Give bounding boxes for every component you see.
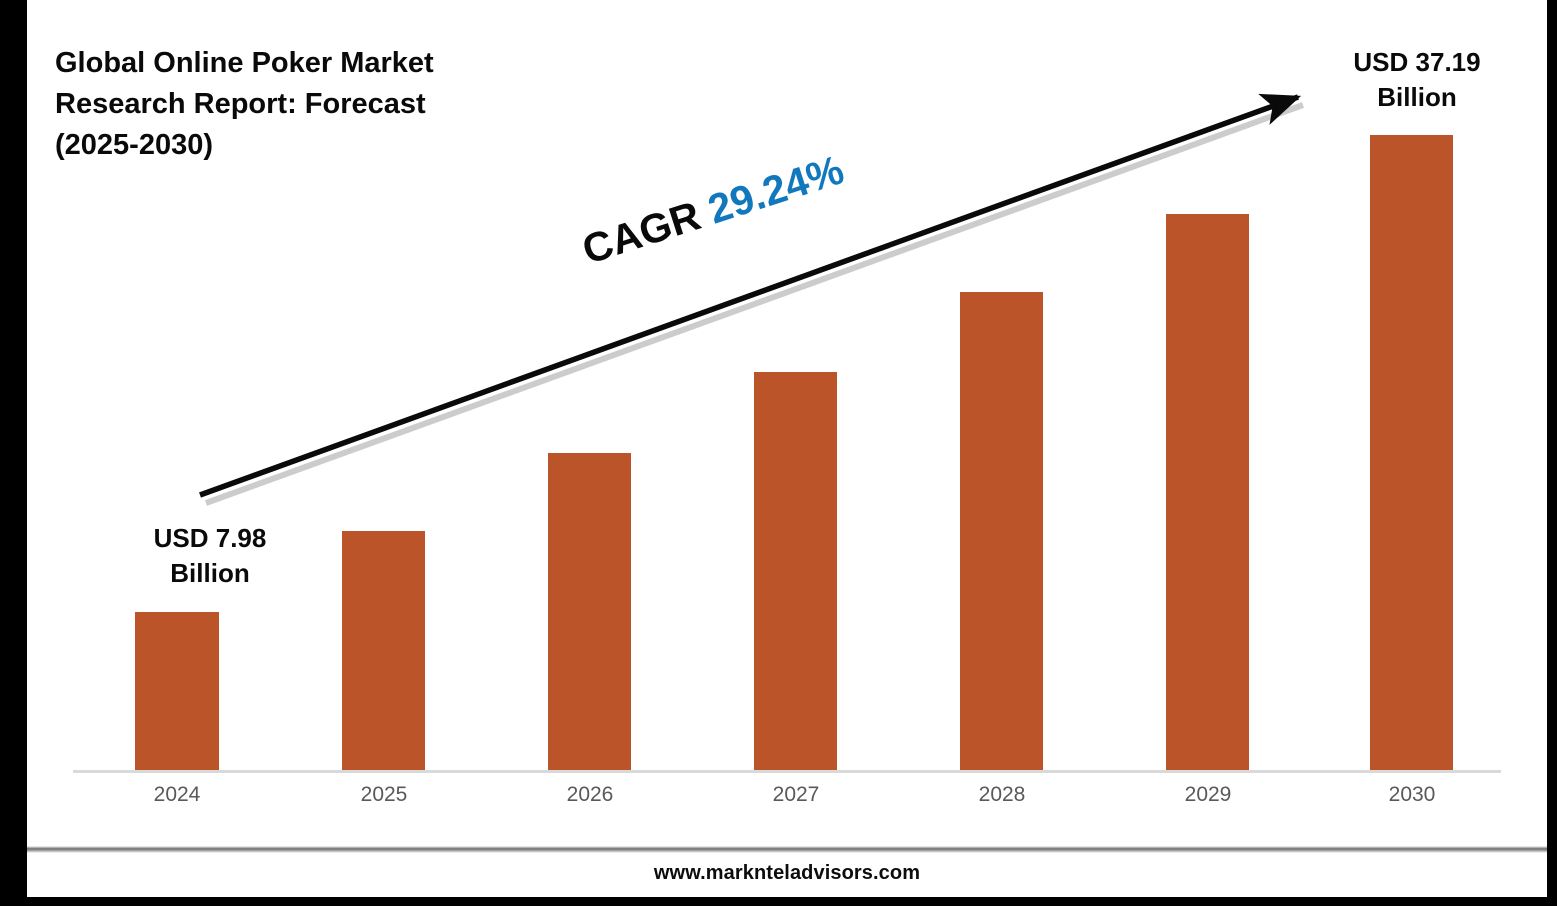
- x-axis-line: [73, 770, 1501, 773]
- value-callout-2030: USD 37.19 Billion: [1317, 45, 1517, 115]
- chart-image-frame: Global Online Poker Market Research Repo…: [0, 0, 1557, 906]
- chart-plot-area: 2024 2025 2026 2027 2028 2029 2030 CAGR …: [27, 3, 1547, 846]
- x-tick-2030: 2030: [1342, 783, 1482, 807]
- x-tick-2028: 2028: [932, 783, 1072, 807]
- bar-2024: [135, 612, 219, 770]
- cagr-label: CAGR 29.24%: [577, 146, 850, 274]
- frame-edge-bottom: [0, 897, 1557, 906]
- footer-website: www.marknteladvisors.com: [27, 862, 1547, 885]
- bar-2028: [960, 292, 1043, 770]
- cagr-word: CAGR: [577, 192, 706, 273]
- bar-2026: [548, 453, 631, 770]
- x-tick-2027: 2027: [726, 783, 866, 807]
- bar-2025: [342, 531, 425, 770]
- cagr-value: 29.24%: [703, 146, 849, 232]
- frame-edge-left: [0, 0, 27, 906]
- x-tick-2024: 2024: [107, 783, 247, 807]
- x-tick-2029: 2029: [1138, 783, 1278, 807]
- frame-edge-right: [1547, 0, 1557, 906]
- x-tick-2025: 2025: [314, 783, 454, 807]
- bar-2030: [1370, 135, 1453, 770]
- bar-2029: [1166, 214, 1249, 770]
- bar-2027: [754, 372, 837, 770]
- x-tick-2026: 2026: [520, 783, 660, 807]
- chart-card: Global Online Poker Market Research Repo…: [27, 3, 1547, 897]
- footer-divider: [27, 846, 1547, 853]
- value-callout-2024: USD 7.98 Billion: [110, 521, 310, 591]
